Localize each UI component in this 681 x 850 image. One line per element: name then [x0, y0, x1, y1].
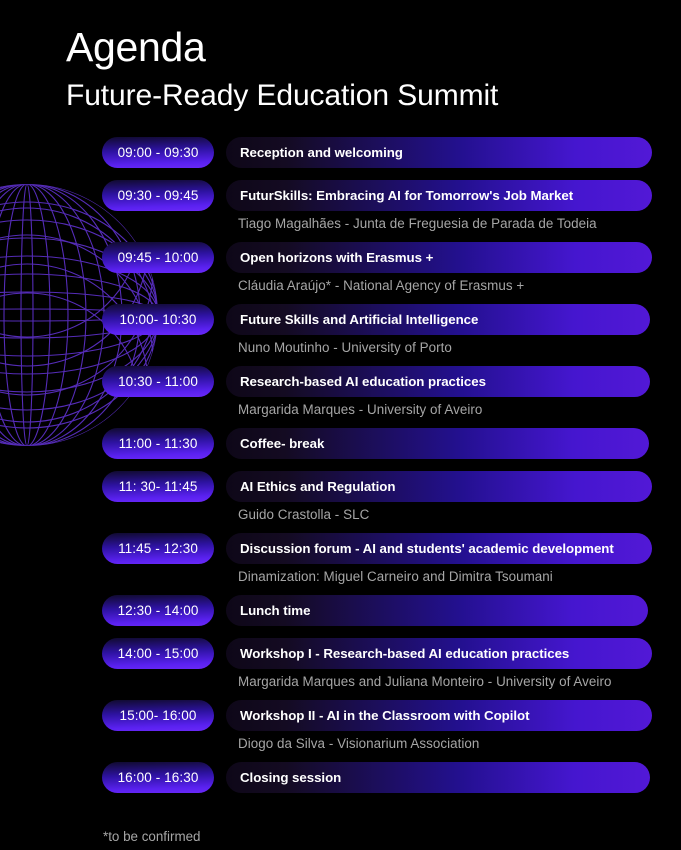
time-slot-pill: 12:30 - 14:00	[102, 595, 214, 626]
time-slot-pill: 09:45 - 10:00	[102, 242, 214, 273]
agenda-row: Research-based AI education practices10:…	[0, 366, 681, 428]
row-spacer	[0, 235, 681, 242]
time-slot-label: 09:45 - 10:00	[118, 250, 199, 265]
time-slot-pill: 09:00 - 09:30	[102, 137, 214, 168]
time-slot-pill: 09:30 - 09:45	[102, 180, 214, 211]
session-title-bar: Reception and welcoming	[226, 137, 652, 168]
session-title-bar: Coffee- break	[226, 428, 649, 459]
page-subtitle: Future-Ready Education Summit	[66, 76, 498, 116]
agenda-row: Discussion forum - AI and students' acad…	[0, 533, 681, 595]
time-slot-pill: 10:30 - 11:00	[102, 366, 214, 397]
agenda-row-main: FuturSkills: Embracing AI for Tomorrow's…	[0, 180, 681, 211]
row-spacer	[0, 626, 681, 638]
session-title: Future Skills and Artificial Intelligenc…	[240, 312, 478, 327]
session-title: Coffee- break	[240, 436, 324, 451]
session-speaker: Dinamization: Miguel Carneiro and Dimitr…	[238, 564, 681, 588]
session-speaker: Nuno Moutinho - University of Porto	[238, 335, 681, 359]
session-title: Closing session	[240, 770, 341, 785]
agenda-row: Future Skills and Artificial Intelligenc…	[0, 304, 681, 366]
session-title: FuturSkills: Embracing AI for Tomorrow's…	[240, 188, 573, 203]
agenda-row: Coffee- break11:00 - 11:30	[0, 428, 681, 471]
session-title: Reception and welcoming	[240, 145, 403, 160]
time-slot-pill: 11:45 - 12:30	[102, 533, 214, 564]
row-spacer	[0, 168, 681, 180]
row-spacer	[0, 588, 681, 595]
session-speaker: Diogo da Silva - Visionarium Association	[238, 731, 681, 755]
agenda-row-main: Future Skills and Artificial Intelligenc…	[0, 304, 681, 335]
session-title: Open horizons with Erasmus +	[240, 250, 433, 265]
row-spacer	[0, 793, 681, 805]
agenda-row: Closing session16:00 - 16:30	[0, 762, 681, 805]
time-slot-label: 11: 30- 11:45	[119, 479, 198, 494]
time-slot-label: 10:00- 10:30	[119, 312, 196, 327]
agenda-poster: Agenda Future-Ready Education Summit Rec…	[0, 0, 681, 850]
agenda-row: Workshop II - AI in the Classroom with C…	[0, 700, 681, 762]
time-slot-pill: 11:00 - 11:30	[102, 428, 214, 459]
session-title-bar: Workshop I - Research-based AI education…	[226, 638, 652, 669]
session-speaker: Cláudia Araújo* - National Agency of Era…	[238, 273, 681, 297]
time-slot-label: 14:00 - 15:00	[118, 646, 199, 661]
session-title: Workshop I - Research-based AI education…	[240, 646, 569, 661]
agenda-row-main: Open horizons with Erasmus +09:45 - 10:0…	[0, 242, 681, 273]
time-slot-label: 11:45 - 12:30	[118, 541, 198, 556]
agenda-row: Reception and welcoming09:00 - 09:30	[0, 137, 681, 180]
time-slot-label: 12:30 - 14:00	[118, 603, 199, 618]
time-slot-pill: 16:00 - 16:30	[102, 762, 214, 793]
agenda-row: AI Ethics and Regulation11: 30- 11:45Gui…	[0, 471, 681, 533]
session-title: Workshop II - AI in the Classroom with C…	[240, 708, 530, 723]
time-slot-pill: 14:00 - 15:00	[102, 638, 214, 669]
agenda-row-main: Research-based AI education practices10:…	[0, 366, 681, 397]
row-spacer	[0, 755, 681, 762]
time-slot-pill: 11: 30- 11:45	[102, 471, 214, 502]
agenda-row-main: AI Ethics and Regulation11: 30- 11:45	[0, 471, 681, 502]
time-slot-label: 15:00- 16:00	[119, 708, 196, 723]
session-title: Lunch time	[240, 603, 310, 618]
time-slot-label: 09:30 - 09:45	[118, 188, 199, 203]
session-title-bar: Discussion forum - AI and students' acad…	[226, 533, 652, 564]
agenda-row-main: Lunch time12:30 - 14:00	[0, 595, 681, 626]
session-speaker: Tiago Magalhães - Junta de Freguesia de …	[238, 211, 681, 235]
row-spacer	[0, 359, 681, 366]
agenda-row-main: Reception and welcoming09:00 - 09:30	[0, 137, 681, 168]
session-title-bar: Closing session	[226, 762, 650, 793]
agenda-row-main: Closing session16:00 - 16:30	[0, 762, 681, 793]
time-slot-label: 09:00 - 09:30	[118, 145, 199, 160]
row-spacer	[0, 693, 681, 700]
footnote-text: *to be confirmed	[103, 829, 201, 844]
page-title: Agenda	[66, 22, 498, 72]
time-slot-label: 11:00 - 11:30	[119, 436, 198, 451]
session-title-bar: Lunch time	[226, 595, 648, 626]
agenda-row-main: Coffee- break11:00 - 11:30	[0, 428, 681, 459]
time-slot-label: 10:30 - 11:00	[118, 374, 198, 389]
session-title: Research-based AI education practices	[240, 374, 486, 389]
session-title-bar: FuturSkills: Embracing AI for Tomorrow's…	[226, 180, 652, 211]
session-speaker: Margarida Marques - University of Aveiro	[238, 397, 681, 421]
session-title: AI Ethics and Regulation	[240, 479, 395, 494]
agenda-row: Open horizons with Erasmus +09:45 - 10:0…	[0, 242, 681, 304]
session-title-bar: Future Skills and Artificial Intelligenc…	[226, 304, 650, 335]
schedule-list: Reception and welcoming09:00 - 09:30Futu…	[0, 137, 681, 805]
time-slot-label: 16:00 - 16:30	[118, 770, 199, 785]
agenda-row-main: Workshop I - Research-based AI education…	[0, 638, 681, 669]
session-title-bar: Research-based AI education practices	[226, 366, 650, 397]
agenda-row: FuturSkills: Embracing AI for Tomorrow's…	[0, 180, 681, 242]
session-speaker: Margarida Marques and Juliana Monteiro -…	[238, 669, 681, 693]
agenda-row: Workshop I - Research-based AI education…	[0, 638, 681, 700]
session-title-bar: Workshop II - AI in the Classroom with C…	[226, 700, 652, 731]
row-spacer	[0, 297, 681, 304]
session-title: Discussion forum - AI and students' acad…	[240, 541, 614, 556]
session-title-bar: AI Ethics and Regulation	[226, 471, 652, 502]
row-spacer	[0, 526, 681, 533]
row-spacer	[0, 459, 681, 471]
session-speaker: Guido Crastolla - SLC	[238, 502, 681, 526]
agenda-row-main: Workshop II - AI in the Classroom with C…	[0, 700, 681, 731]
poster-header: Agenda Future-Ready Education Summit	[66, 22, 498, 116]
time-slot-pill: 10:00- 10:30	[102, 304, 214, 335]
agenda-row: Lunch time12:30 - 14:00	[0, 595, 681, 638]
session-title-bar: Open horizons with Erasmus +	[226, 242, 652, 273]
row-spacer	[0, 421, 681, 428]
time-slot-pill: 15:00- 16:00	[102, 700, 214, 731]
agenda-row-main: Discussion forum - AI and students' acad…	[0, 533, 681, 564]
